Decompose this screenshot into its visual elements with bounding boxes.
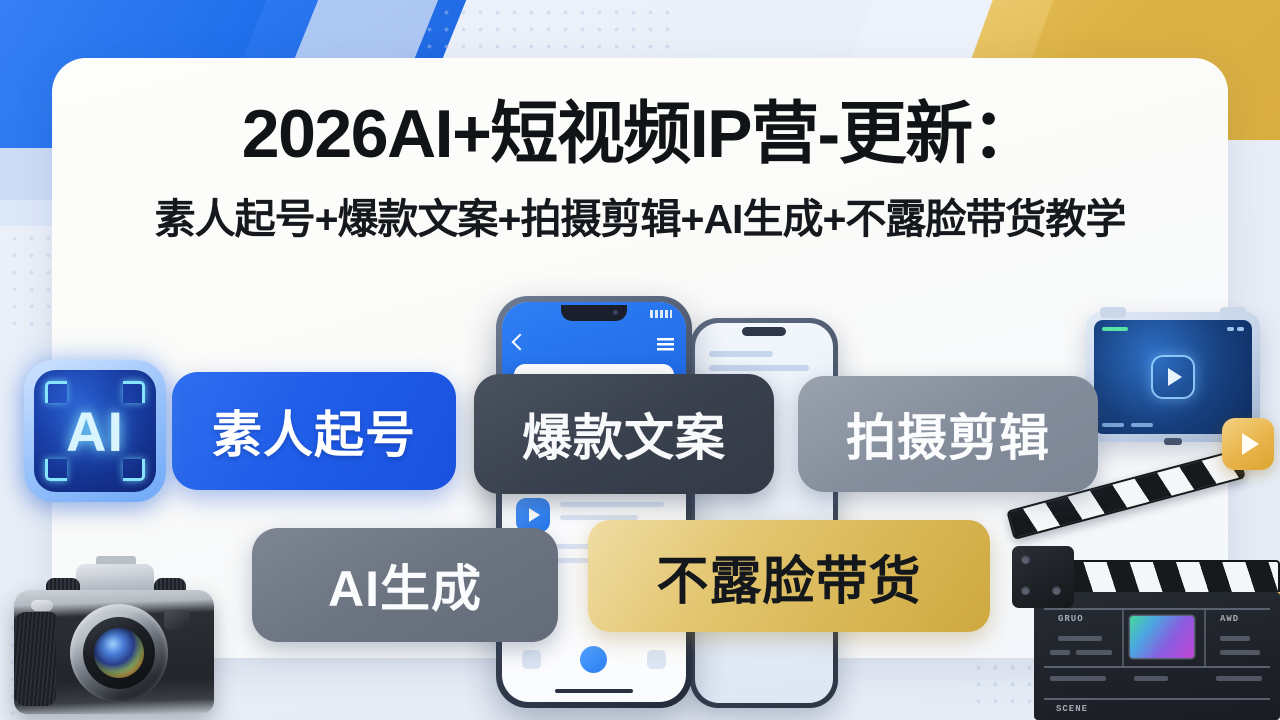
monitor-stand <box>1164 438 1182 445</box>
page-subtitle: 素人起号+爆款文案+拍摄剪辑+AI生成+不露脸带货教学 <box>70 185 1210 245</box>
play-button-icon[interactable] <box>516 498 550 532</box>
record-indicator-icon <box>1102 327 1128 331</box>
phone-notch-icon <box>742 327 786 336</box>
play-button-icon[interactable] <box>1151 355 1195 399</box>
placeholder-row <box>709 365 809 371</box>
badge-paishe-jianji[interactable]: 拍摄剪辑 <box>798 376 1098 492</box>
clapper-text-blur <box>1050 676 1106 681</box>
clapper-hinge <box>1012 546 1074 608</box>
battery-icon <box>1227 327 1244 331</box>
clapper-text-blur <box>1058 636 1102 641</box>
clapper-field-label: AWD <box>1220 614 1239 624</box>
play-triangle-icon <box>1242 433 1259 455</box>
clapper-rule <box>1044 698 1270 700</box>
ai-badge-label: AI <box>66 399 124 464</box>
clapper-text-blur <box>1220 650 1260 655</box>
back-arrow-icon[interactable] <box>512 334 529 351</box>
play-triangle-icon <box>1168 368 1182 386</box>
placeholder-row <box>709 351 773 357</box>
clapper-rule <box>1044 666 1270 668</box>
clapper-slate: GRUO AWD AWD SCENE <box>1034 592 1280 720</box>
play-triangle-icon <box>529 508 540 522</box>
promo-poster: 2026AI+短视频IP营-更新： 素人起号+爆款文案+拍摄剪辑+AI生成+不露… <box>0 0 1280 720</box>
clapper-text-blur <box>1050 650 1070 655</box>
clapper-text-blur <box>1216 676 1262 681</box>
camera-flash-port <box>164 610 190 630</box>
clapper-text-blur <box>1134 676 1168 681</box>
scan-corner-bracket-icon <box>45 459 67 481</box>
clapper-field-label: GRUO <box>1058 614 1084 624</box>
nav-item-record-icon[interactable] <box>580 646 607 673</box>
camera-lens-barrel <box>83 617 155 689</box>
badge-suren-qihao[interactable]: 素人起号 <box>172 372 456 490</box>
ai-scan-icon: AI <box>24 360 166 502</box>
clapper-text-blur <box>1076 650 1112 655</box>
nav-item-home-icon[interactable] <box>522 650 541 669</box>
phone-mockup-front <box>496 296 692 708</box>
signal-icon <box>650 310 672 318</box>
camera-lens-glass <box>94 628 144 678</box>
clapper-preview-thumbnail <box>1130 616 1194 658</box>
camera-shutter-button <box>31 600 53 611</box>
clapper-rule <box>1044 608 1270 610</box>
nav-item-profile-icon[interactable] <box>647 650 666 669</box>
hamburger-menu-icon[interactable] <box>657 338 674 351</box>
page-title: 2026AI+短视频IP营-更新： <box>70 100 1210 169</box>
ai-badge-inner: AI <box>34 370 156 492</box>
phone-notch-icon <box>561 305 627 321</box>
bottom-nav-bar <box>502 638 686 680</box>
headline-block: 2026AI+短视频IP营-更新： 素人起号+爆款文案+拍摄剪辑+AI生成+不露… <box>52 58 1228 245</box>
badge-baokuan-wenan[interactable]: 爆款文案 <box>474 374 774 494</box>
scan-corner-bracket-icon <box>123 381 145 403</box>
placeholder-row <box>560 502 664 507</box>
scan-corner-bracket-icon <box>45 381 67 403</box>
home-indicator <box>555 689 633 693</box>
badge-buloulian-daihuo[interactable]: 不露脸带货 <box>588 520 990 632</box>
clapperboard-image: GRUO AWD AWD SCENE <box>1012 508 1280 720</box>
clapper-rule <box>1122 610 1124 666</box>
scan-corner-bracket-icon <box>123 459 145 481</box>
decor-dot-grid-top <box>370 4 670 60</box>
badge-ai-shengcheng[interactable]: AI生成 <box>252 528 558 642</box>
clapper-field-label: SCENE <box>1056 704 1088 714</box>
monitor-metadata <box>1102 423 1153 427</box>
clapper-bottom-stripe <box>1068 560 1280 592</box>
gold-play-badge[interactable] <box>1222 418 1274 470</box>
camera-grip <box>14 612 56 706</box>
clapper-text-blur <box>1220 636 1250 641</box>
phone-front-screen <box>502 302 686 702</box>
monitor-screen <box>1094 320 1252 434</box>
dslr-camera-image <box>4 548 226 720</box>
clapper-rule <box>1204 610 1206 666</box>
camera-lens <box>70 604 168 702</box>
